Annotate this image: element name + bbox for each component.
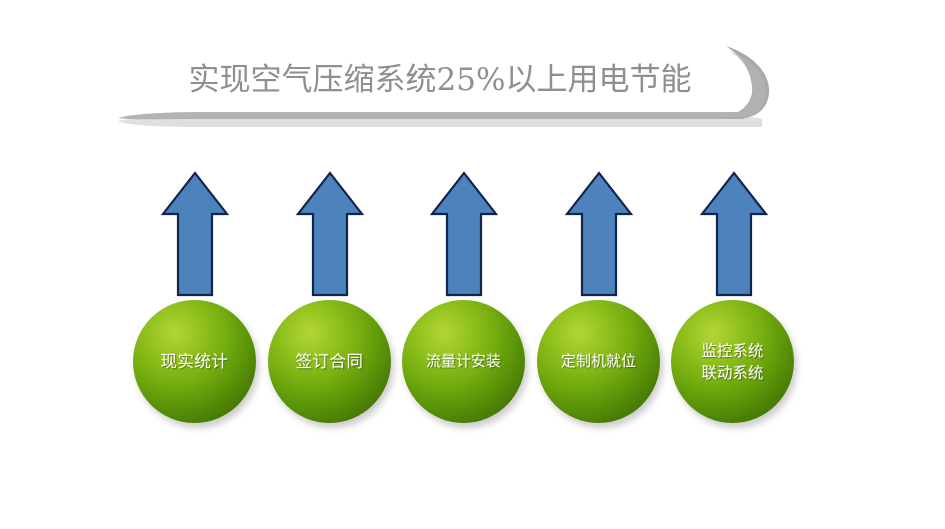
process-node-label: 流量计安装: [422, 351, 505, 372]
process-node-label: 定制机就位: [557, 351, 640, 372]
process-node-2[interactable]: 签订合同: [268, 300, 391, 423]
page-title: 实现空气压缩系统25%以上用电节能: [140, 58, 740, 102]
process-node-1[interactable]: 现实统计: [133, 300, 256, 423]
process-node-4[interactable]: 定制机就位: [537, 300, 660, 423]
process-node-3[interactable]: 流量计安装: [402, 300, 525, 423]
title-banner: 实现空气压缩系统25%以上用电节能: [0, 18, 945, 138]
process-node-label: 签订合同: [292, 351, 368, 372]
slide-canvas: 实现空气压缩系统25%以上用电节能 现实统计 签订合同 流量计安装 定制机就位 …: [0, 0, 945, 529]
arrow-up-5: [699, 170, 769, 298]
process-node-5[interactable]: 监控系统 联动系统: [671, 300, 794, 423]
arrow-up-2: [295, 170, 365, 298]
arrow-up-4: [564, 170, 634, 298]
arrow-up-1: [160, 170, 230, 298]
process-node-label: 现实统计: [157, 351, 233, 372]
process-node-label: 监控系统 联动系统: [697, 340, 767, 384]
arrow-up-3: [429, 170, 499, 298]
